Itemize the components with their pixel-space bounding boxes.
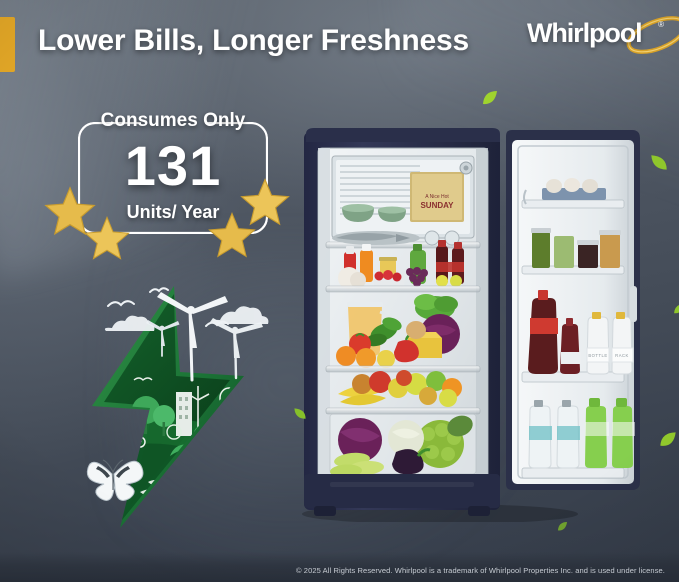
svg-text:BOTTLE: BOTTLE: [588, 353, 607, 358]
egg: [582, 179, 598, 193]
badge-title: Consumes Only: [101, 110, 246, 132]
crisper-drawer: [330, 412, 476, 478]
svg-text:A Nice Hot: A Nice Hot: [425, 194, 449, 200]
egg: [546, 179, 562, 193]
green-bottle: [612, 406, 633, 468]
freezer-compartment: A Nice Hot SUNDAY: [332, 156, 474, 238]
leaf-icon: [672, 302, 679, 316]
eco-bolt-illustration: [78, 282, 293, 532]
badge-value: 131: [125, 138, 221, 194]
shelf-three: [326, 286, 480, 292]
grain-jar: [600, 234, 620, 268]
leaf-icon: [648, 152, 670, 174]
refrigerator: A Nice Hot SUNDAY: [300, 126, 646, 522]
star-icon: [238, 176, 292, 230]
fish-tray: [332, 231, 420, 245]
leaf-icon: [480, 88, 500, 108]
green-bottle: [585, 406, 607, 468]
green-container: [554, 236, 574, 268]
page-title: Lower Bills, Longer Freshness: [38, 24, 469, 58]
leaf-icon: [657, 428, 679, 450]
accent-bar: [0, 17, 15, 72]
star-icon: [82, 214, 132, 264]
registered-mark: ®: [658, 20, 664, 29]
fridge-base: [304, 474, 500, 508]
spice-jar: [578, 244, 598, 268]
egg: [564, 178, 580, 192]
svg-text:SUNDAY: SUNDAY: [420, 201, 454, 210]
leaf-icon: [556, 520, 569, 533]
energy-consumption-badge: Consumes Only 131 Units/ Year: [78, 122, 268, 234]
copyright-text: © 2025 All Rights Reserved. Whirlpool is…: [296, 566, 665, 575]
leaf-icon: [292, 406, 308, 422]
svg-text:RACK: RACK: [615, 353, 629, 358]
water-bottle-rack: [522, 398, 635, 478]
pickle-jar: [532, 232, 550, 268]
refrigerator-door: BOTTLE RACK: [506, 130, 640, 490]
cola-bottle-large: [528, 298, 558, 374]
whirlpool-logo: Whirlpool ®: [527, 16, 665, 56]
whirlpool-wordmark: Whirlpool: [527, 18, 642, 49]
promo-banner: Lower Bills, Longer Freshness Whirlpool …: [0, 0, 679, 582]
